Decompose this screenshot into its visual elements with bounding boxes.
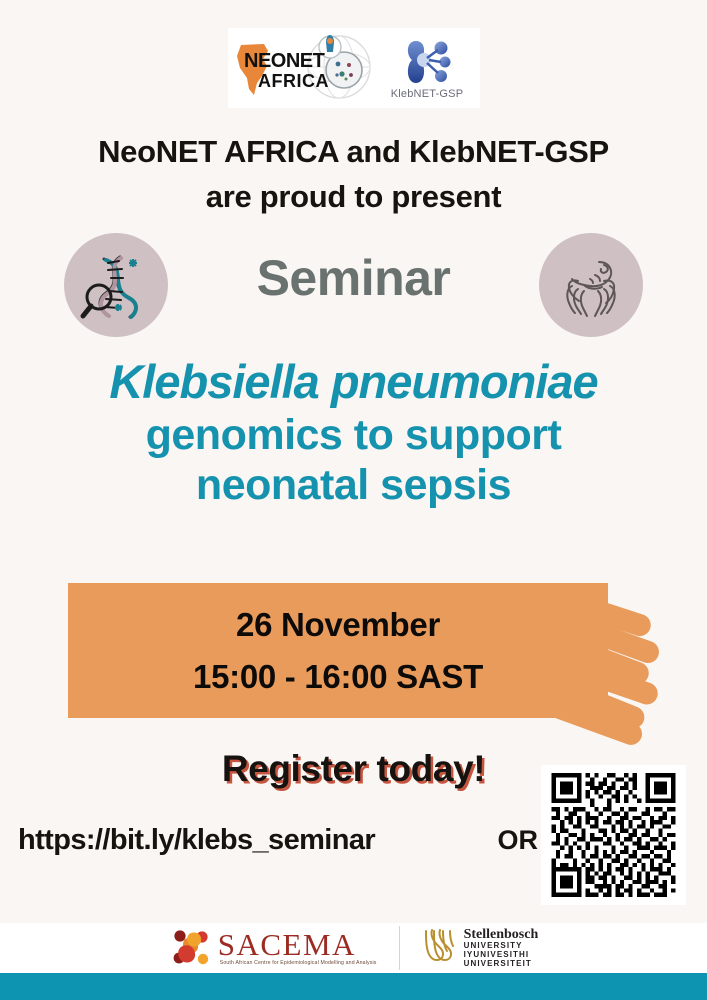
title-line-2: genomics to support	[0, 412, 707, 458]
registration-qr-code[interactable]	[541, 765, 686, 905]
seminar-title: Klebsiella pneumoniae genomics to suppor…	[0, 357, 707, 509]
date-time-banner: 26 November 15:00 - 16:00 SAST	[68, 583, 668, 718]
registration-url[interactable]: https://bit.ly/klebs_seminar	[18, 824, 375, 857]
stellenbosch-university-af: UNIVERSITEIT	[464, 960, 539, 969]
seminar-poster: NEONET AFRICA	[0, 0, 707, 1000]
baby-hands-icon-badge	[539, 233, 643, 337]
title-line-1: Klebsiella pneumoniae	[0, 357, 707, 408]
neonet-africa-logo: NEONET AFRICA	[232, 32, 372, 104]
sacema-tagline: South African Centre for Epidemiological…	[220, 960, 377, 966]
klebnet-label: KlebNET-GSP	[391, 88, 464, 100]
registration-url-row: https://bit.ly/klebs_seminar OR	[18, 824, 538, 857]
seminar-row: Seminar	[0, 233, 707, 341]
hands-holding-baby-icon	[554, 248, 628, 322]
or-label: OR	[498, 825, 539, 856]
sacema-people-icon	[169, 927, 213, 969]
date-time-text: 26 November 15:00 - 16:00 SAST	[68, 583, 608, 718]
top-logo-band: NEONET AFRICA	[228, 28, 480, 108]
klebnet-gsp-logo: KlebNET-GSP	[378, 31, 476, 105]
neonet-wordmark: NEONET	[244, 51, 324, 71]
bottom-accent-strip	[0, 973, 707, 1000]
headline: NeoNET AFRICA and KlebNET-GSP are proud …	[0, 130, 707, 220]
stellenbosch-flame-icon	[422, 928, 456, 968]
qr-code-image	[549, 773, 678, 897]
klebnet-molecule-icon	[400, 37, 454, 87]
neonet-africa-word: AFRICA	[258, 72, 329, 90]
footer-logo-band: SACEMA South African Centre for Epidemio…	[0, 923, 707, 973]
headline-line-1: NeoNET AFRICA and KlebNET-GSP	[0, 130, 707, 175]
sacema-wordmark: SACEMA	[218, 930, 377, 959]
event-time: 15:00 - 16:00 SAST	[193, 651, 483, 702]
stellenbosch-university-logo: Stellenbosch UNIVERSITY IYUNIVESITHI UNI…	[400, 927, 539, 970]
headline-line-2: are proud to present	[0, 175, 707, 220]
stellenbosch-name: Stellenbosch	[464, 927, 539, 943]
sacema-logo: SACEMA South African Centre for Epidemio…	[169, 927, 399, 969]
event-date: 26 November	[236, 599, 440, 650]
title-line-3: neonatal sepsis	[0, 462, 707, 508]
